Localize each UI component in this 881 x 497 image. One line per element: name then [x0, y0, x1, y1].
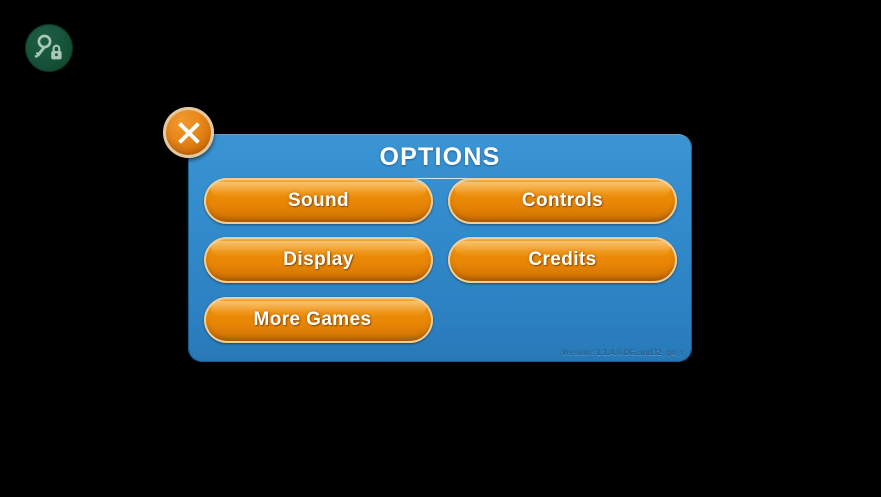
controls-button-label: Controls — [522, 190, 603, 212]
key-and-padlock-icon — [33, 32, 65, 64]
page-title: OPTIONS — [188, 142, 692, 172]
version-label: Version: 1.1.4.0.DG.and32_go_r — [561, 348, 684, 357]
sound-button-label: Sound — [288, 190, 349, 212]
credits-button-label: Credits — [528, 249, 596, 271]
keys-badge[interactable] — [25, 24, 73, 72]
display-button[interactable]: Display — [204, 237, 433, 283]
more-games-button[interactable]: More Games — [204, 297, 433, 343]
sound-button[interactable]: Sound — [204, 178, 433, 224]
close-button[interactable] — [163, 107, 214, 158]
more-games-button-label: More Games — [253, 309, 371, 331]
credits-button[interactable]: Credits — [448, 237, 677, 283]
controls-button[interactable]: Controls — [448, 178, 677, 224]
close-x-icon — [172, 116, 206, 150]
display-button-label: Display — [283, 249, 353, 271]
options-panel: OPTIONS Sound Controls Display Credits M… — [188, 134, 692, 362]
